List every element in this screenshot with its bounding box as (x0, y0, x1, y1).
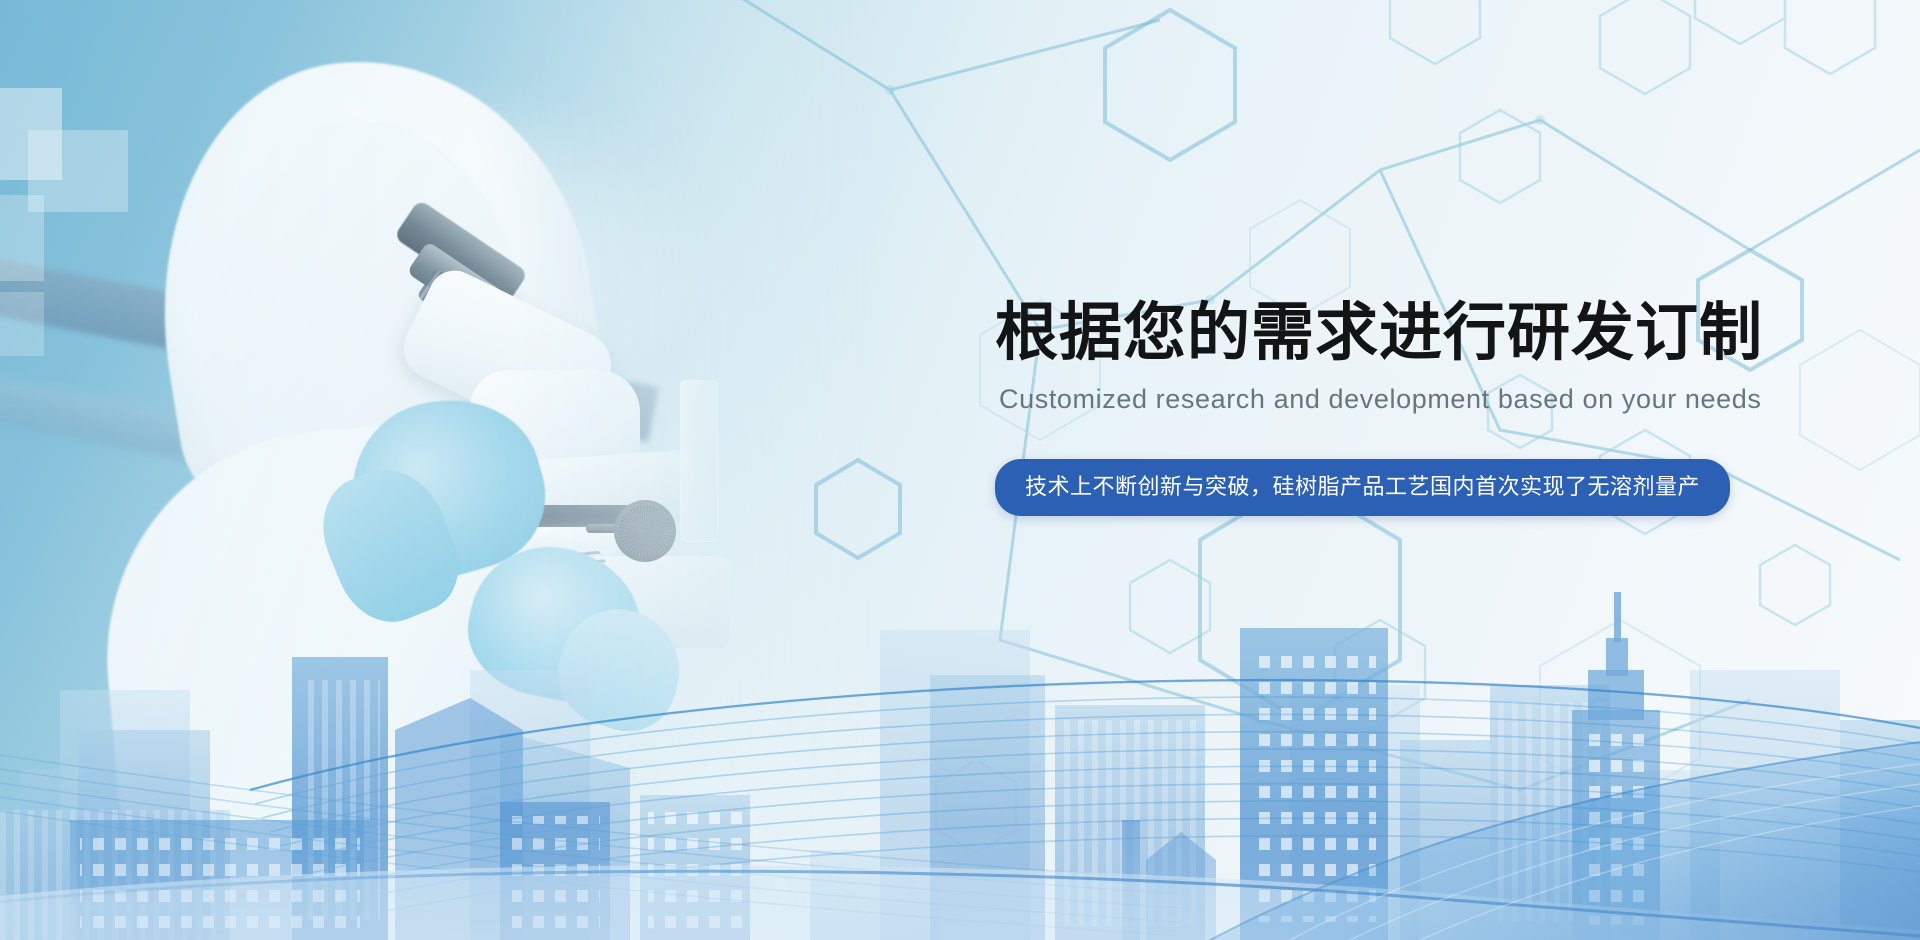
hero-banner: 根据您的需求进行研发订制 Customized research and dev… (0, 0, 1920, 940)
status-badge: 技术上不断创新与突破，硅树脂产品工艺国内首次实现了无溶剂量产 (995, 459, 1730, 516)
banner-subheadline: Customized research and development base… (999, 383, 1775, 415)
banner-badge-wrapper: 技术上不断创新与突破，硅树脂产品工艺国内首次实现了无溶剂量产 (995, 459, 1775, 516)
banner-content: 根据您的需求进行研发订制 Customized research and dev… (995, 300, 1775, 516)
banner-headline: 根据您的需求进行研发订制 (995, 300, 1775, 367)
bottom-fade-overlay (0, 820, 1920, 940)
